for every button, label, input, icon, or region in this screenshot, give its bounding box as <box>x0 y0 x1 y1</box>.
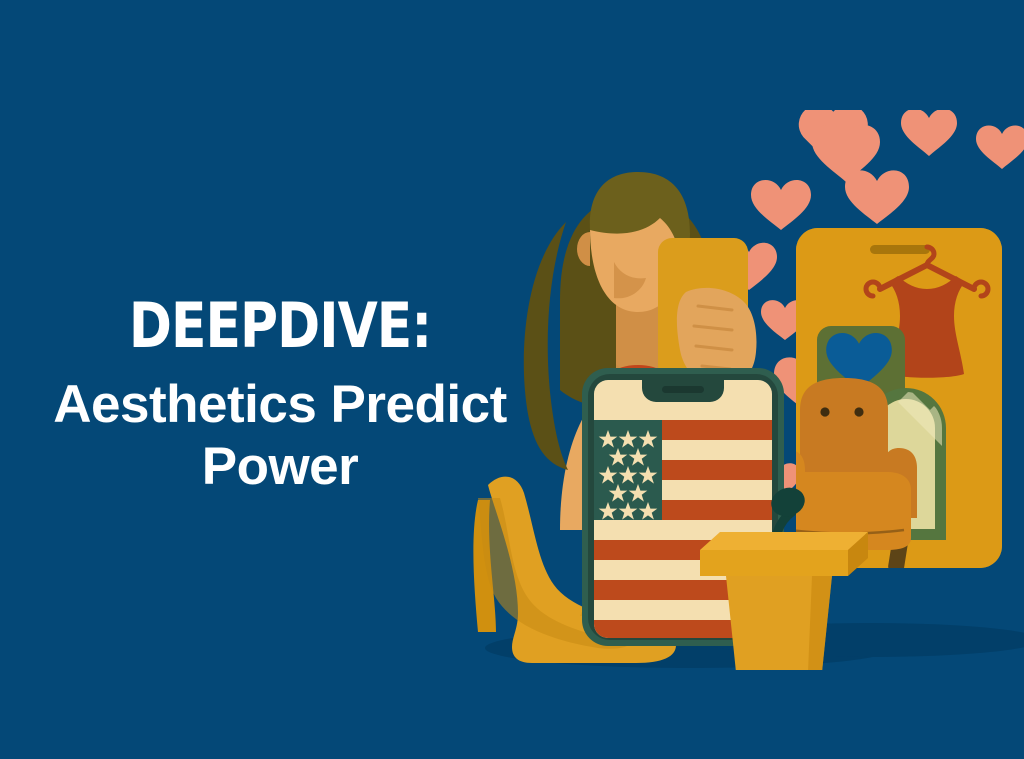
page-headline: DEEPDIVE: <box>20 292 541 360</box>
text-block: DEEPDIVE: Aesthetics Predict Power <box>0 292 560 498</box>
poster-canvas: DEEPDIVE: Aesthetics Predict Power <box>0 0 1024 759</box>
page-subheadline: Aesthetics Predict Power <box>0 374 560 498</box>
speaker-bar <box>870 245 930 254</box>
lifestyle-panel <box>771 228 1002 574</box>
